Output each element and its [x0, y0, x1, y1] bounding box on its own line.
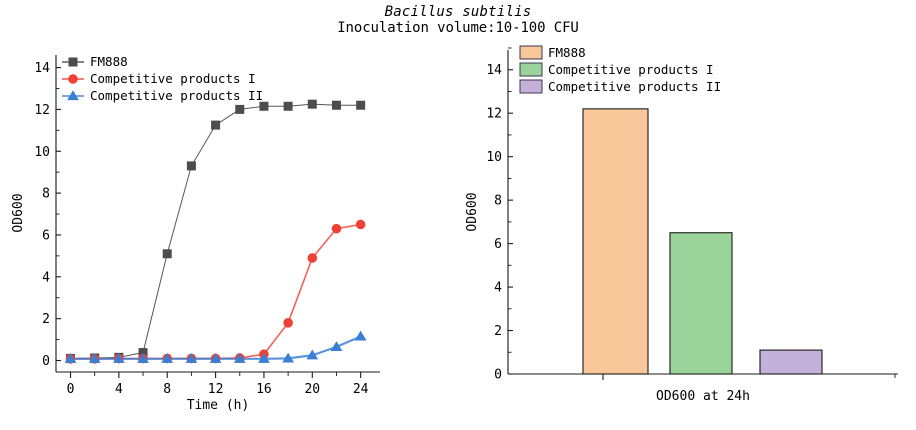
left-x-axis-label: Time (h) — [187, 398, 250, 413]
left-y-ticks: 02468101214 — [34, 61, 61, 369]
od600-bar-svg: 02468101214 FM888Competitive products IC… — [458, 0, 916, 430]
left-y-tick-label: 10 — [34, 145, 50, 160]
series-marker-square — [284, 102, 292, 110]
left-x-ticks: 04812162024 — [67, 372, 369, 397]
growth-curve-panel: 02468101214 04812162024 FM888Competitive… — [0, 0, 458, 430]
left-x-tick-label: 20 — [304, 382, 320, 397]
series-marker-square — [357, 101, 365, 109]
right-x-axis-label: OD600 at 24h — [656, 389, 750, 404]
legend-swatch-1 — [520, 63, 542, 76]
right-y-tick-label: 10 — [486, 150, 502, 165]
series-marker-square — [260, 102, 268, 110]
left-y-tick-label: 2 — [42, 312, 50, 327]
legend-swatch-0 — [520, 46, 542, 59]
bar-2[interactable] — [760, 350, 822, 374]
od600-bar-panel: 02468101214 FM888Competitive products IC… — [458, 0, 916, 430]
legend-label-0: FM888 — [548, 45, 586, 60]
series-marker-circle — [356, 220, 365, 229]
left-x-tick-label: 12 — [208, 382, 224, 397]
series-marker-triangle — [356, 332, 366, 340]
left-series-group — [66, 100, 366, 363]
legend-label-1: Competitive products I — [90, 71, 256, 86]
left-x-tick-label: 16 — [256, 382, 272, 397]
right-y-tick-label: 2 — [494, 324, 502, 339]
right-y-tick-label: 8 — [494, 194, 502, 209]
series-marker-square — [163, 250, 171, 258]
right-legend: FM888Competitive products ICompetitive p… — [520, 45, 721, 94]
left-x-tick-label: 24 — [353, 382, 369, 397]
left-y-tick-label: 6 — [42, 228, 50, 243]
legend-label-2: Competitive products II — [90, 88, 263, 103]
bar-group — [583, 109, 822, 374]
left-x-tick-label: 8 — [163, 382, 171, 397]
left-y-tick-label: 4 — [42, 270, 50, 285]
series-marker-square — [332, 101, 340, 109]
right-y-tick-label: 6 — [494, 237, 502, 252]
series-marker-square — [236, 105, 244, 113]
left-y-tick-label: 0 — [42, 354, 50, 369]
right-y-tick-label: 0 — [494, 368, 502, 383]
right-y-axis-label: OD600 — [465, 192, 480, 231]
bar-0[interactable] — [583, 109, 648, 374]
series-marker-circle — [308, 254, 317, 263]
left-x-tick-label: 0 — [67, 382, 75, 397]
growth-curve-svg: 02468101214 04812162024 FM888Competitive… — [0, 0, 458, 430]
series-marker-square — [187, 162, 195, 170]
legend-swatch-2 — [520, 80, 542, 93]
left-y-tick-label: 14 — [34, 61, 50, 76]
legend-marker-1 — [69, 75, 78, 84]
right-y-tick-label: 14 — [486, 63, 502, 78]
left-legend: FM888Competitive products ICompetitive p… — [62, 54, 263, 103]
series-marker-circle — [332, 224, 341, 233]
left-y-axis-label: OD600 — [11, 193, 26, 232]
figure-root: Bacillus subtilis Inoculation volume:10-… — [0, 0, 916, 430]
right-y-ticks: 02468101214 — [486, 48, 513, 383]
legend-label-0: FM888 — [90, 54, 128, 69]
right-y-tick-label: 4 — [494, 281, 502, 296]
left-y-tick-label: 12 — [34, 103, 50, 118]
series-line-circle — [71, 224, 361, 358]
left-y-tick-label: 8 — [42, 187, 50, 202]
legend-label-2: Competitive products II — [548, 79, 721, 94]
series-marker-square — [212, 121, 220, 129]
left-x-tick-label: 4 — [115, 382, 123, 397]
legend-label-1: Competitive products I — [548, 62, 714, 77]
bar-1[interactable] — [670, 233, 732, 374]
right-y-tick-label: 12 — [486, 107, 502, 122]
series-line-square — [71, 104, 361, 358]
series-marker-circle — [284, 319, 293, 328]
legend-marker-0 — [69, 58, 77, 66]
series-marker-square — [308, 100, 316, 108]
right-x-ticks — [603, 374, 895, 380]
